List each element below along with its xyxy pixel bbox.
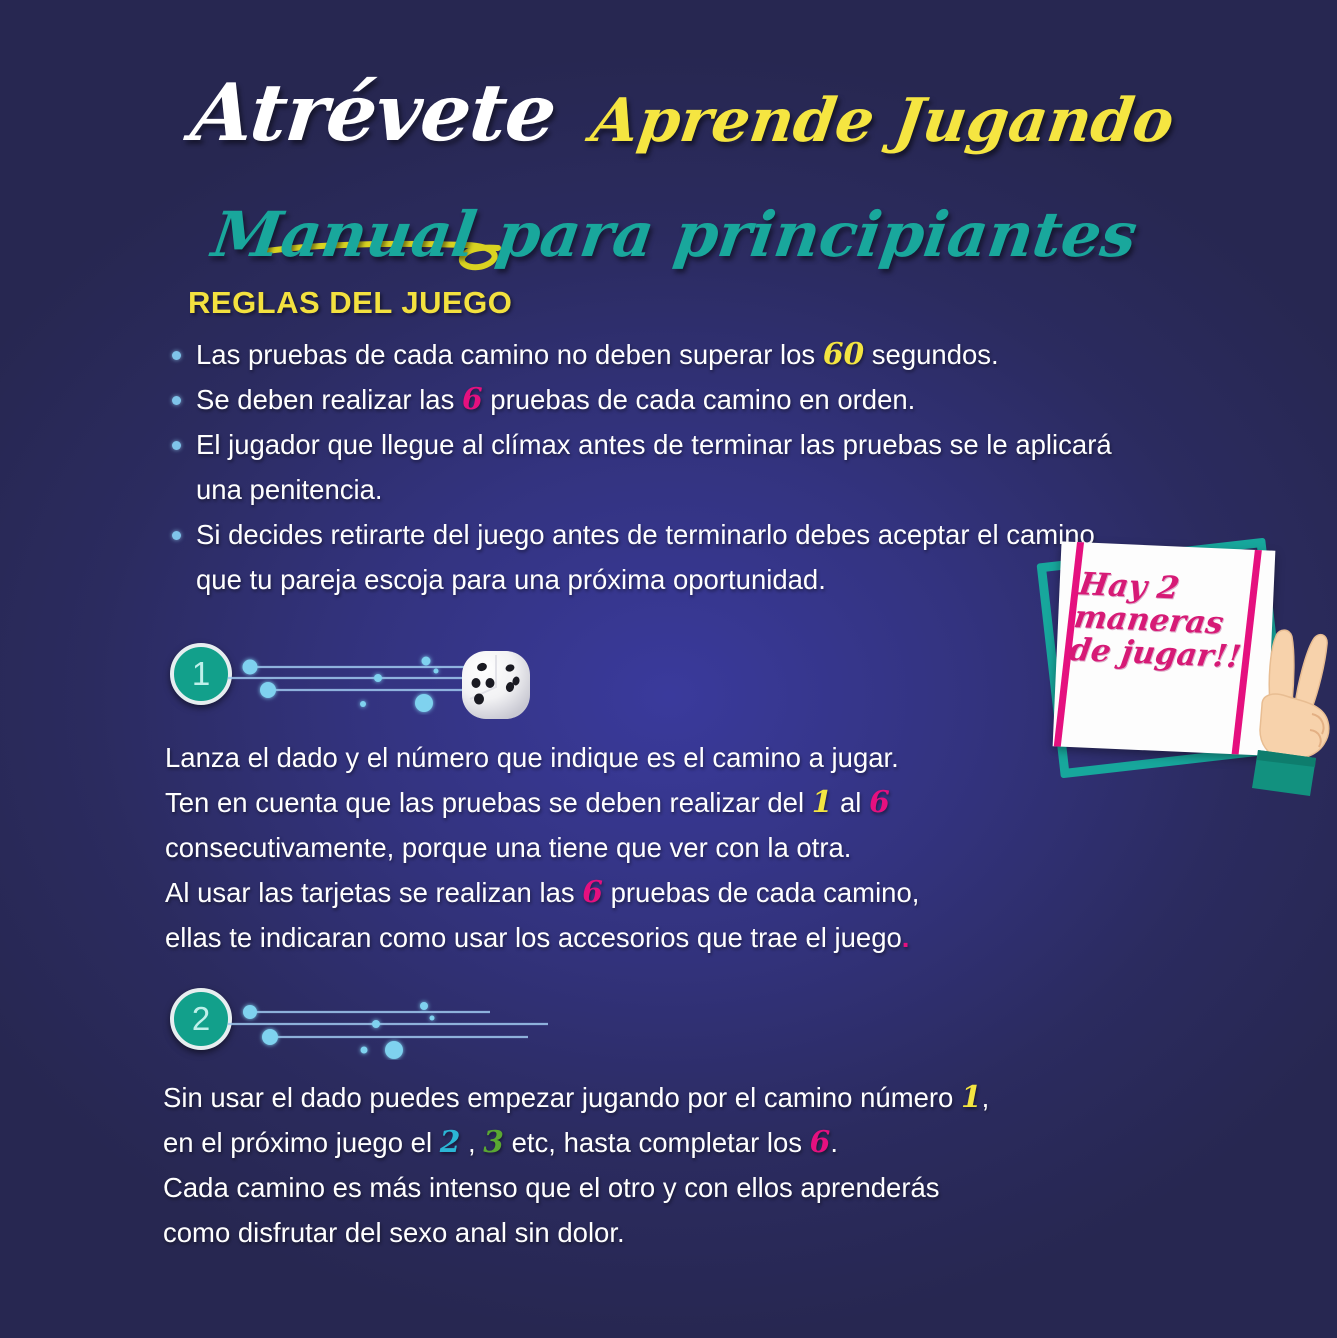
text: Al usar las tarjetas se realizan las [165,877,582,908]
rule-text-post: pruebas de cada camino en orden. [483,384,916,415]
paragraph-line: como disfrutar del sexo anal sin dolor. [163,1210,1123,1255]
bullet-icon [172,396,181,405]
rule-text-post: segundos. [864,339,999,370]
peace-hand-icon [1240,610,1337,800]
rule-text-pre: Si decides retirarte del juego antes de … [196,519,1095,595]
list-item: Las pruebas de cada camino no deben supe… [170,332,1130,377]
poster-stage: Atrévete Aprende Jugando Manual para pri… [0,0,1337,1338]
text: Lanza el dado y el número que indique es… [165,742,899,773]
inline-number: 2 [440,1125,461,1160]
step-2-description: Sin usar el dado puedes empezar jugando … [163,1075,1123,1255]
callout-note: Hay 2 maneras de jugar!! [1040,538,1337,813]
step-marker-2: 2 [170,988,590,1068]
text: , [460,1127,483,1158]
paragraph-line: Sin usar el dado puedes empezar jugando … [163,1075,1123,1120]
text: ellas te indicaran como usar los accesor… [165,922,902,953]
list-item: Si decides retirarte del juego antes de … [170,512,1130,602]
inline-punctuation: . [902,922,910,953]
paragraph-line: Al usar las tarjetas se realizan las 6 p… [165,870,1085,915]
rules-list: Las pruebas de cada camino no deben supe… [170,332,1130,602]
bullet-icon [172,351,181,360]
bullet-icon [172,441,181,450]
rule-text-pre: El jugador que llegue al clímax antes de… [196,429,1112,505]
rule-text-pre: Las pruebas de cada camino no deben supe… [196,339,823,370]
text: pruebas de cada camino, [603,877,919,908]
brand-title: Atrévete [187,66,560,159]
rule-number: 60 [823,337,864,372]
note-text: Hay 2 maneras de jugar!! [1067,568,1268,675]
text: en el próximo juego el [163,1127,440,1158]
connector-lines-icon [228,990,558,1060]
subtitle: Manual para principiantes [208,198,1142,271]
rules-heading: REGLAS DEL JUEGO [188,285,512,321]
inline-number: 1 [961,1080,982,1115]
text: al [832,787,869,818]
paragraph-line: Cada camino es más intenso que el otro y… [163,1165,1123,1210]
tagline: Aprende Jugando [587,86,1178,156]
list-item: Se deben realizar las 6 pruebas de cada … [170,377,1130,422]
step-number-label: 1 [192,655,210,693]
inline-number: 3 [483,1125,504,1160]
text: como disfrutar del sexo anal sin dolor. [163,1217,625,1248]
note-line-3: de jugar!! [1067,634,1258,675]
rule-text-pre: Se deben realizar las [196,384,462,415]
text: Ten en cuenta que las pruebas se deben r… [165,787,812,818]
inline-number: 6 [582,875,603,910]
paragraph-line: consecutivamente, porque una tiene que v… [165,825,1085,870]
dice-icon [448,637,544,733]
list-item: El jugador que llegue al clímax antes de… [170,422,1130,512]
text: Cada camino es más intenso que el otro y… [163,1172,940,1203]
inline-number: 1 [812,785,833,820]
step-1-description: Lanza el dado y el número que indique es… [165,735,1085,960]
step-number-label: 2 [192,1000,210,1038]
inline-number: 6 [869,785,890,820]
paragraph-line: Ten en cuenta que las pruebas se deben r… [165,780,1085,825]
text: consecutivamente, porque una tiene que v… [165,832,851,863]
text: Sin usar el dado puedes empezar jugando … [163,1082,961,1113]
rule-number: 6 [462,382,483,417]
title-block: Atrévete Aprende Jugando Manual para pri… [0,72,1337,164]
step-number-circle-2: 2 [170,988,232,1050]
step-marker-1: 1 [170,643,590,723]
text: etc, hasta completar los [504,1127,810,1158]
bullet-icon [172,531,181,540]
paragraph-line: Lanza el dado y el número que indique es… [165,735,1085,780]
text: , [982,1082,990,1113]
paragraph-line: en el próximo juego el 2 , 3 etc, hasta … [163,1120,1123,1165]
text: . [830,1127,838,1158]
step-number-circle-1: 1 [170,643,232,705]
paragraph-line: ellas te indicaran como usar los accesor… [165,915,1085,960]
inline-number: 6 [810,1125,831,1160]
